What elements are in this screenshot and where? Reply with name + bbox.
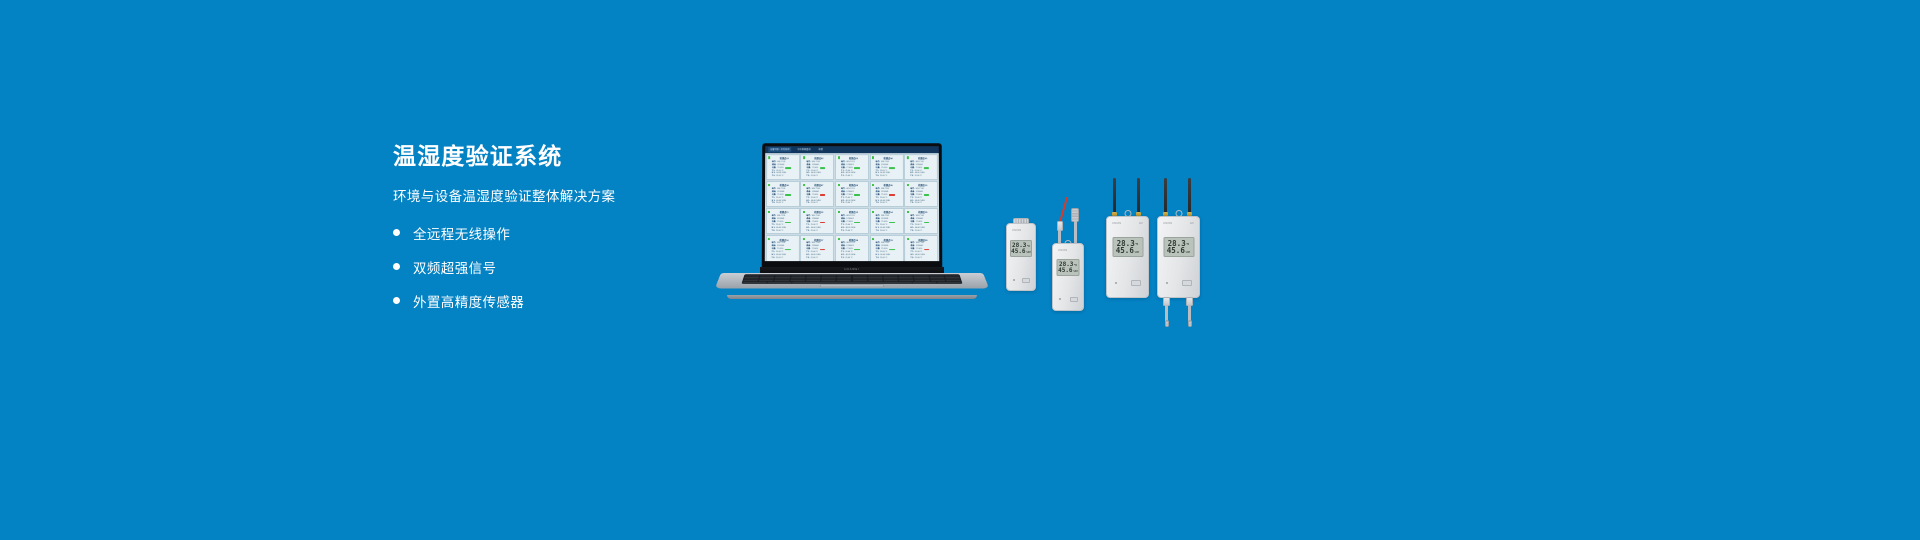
- tab-alarm[interactable]: 报警: [817, 148, 825, 152]
- app-header: 设备列表 / 实时监控 历史数据查询 报警: [765, 146, 939, 153]
- device-card-row: T 2:25.00 ℃: [876, 202, 901, 205]
- device-card-row: T 2:25.00 ℃: [772, 202, 797, 205]
- device-card[interactable]: 检测点03编号:WS-TY01通道:1230001电量:77.00%T 1:25…: [835, 154, 869, 180]
- device-brand-label: UNION: [1112, 222, 1121, 225]
- device-card[interactable]: 检测点19编号:WS-TY01通道:1230001电量:77.00%T 1:25…: [870, 235, 904, 261]
- field-label: T 2:: [876, 175, 879, 178]
- device-card-row: T 2:25.00 ℃: [806, 230, 831, 233]
- field-value: 25.00 ℃: [845, 175, 852, 178]
- field-value: 25.00 ℃: [811, 257, 818, 260]
- device-card-row: T 2:25.00 ℃: [806, 202, 831, 205]
- device-temp-humidity-logger-probe: UNION 28.3 ℃ 45.6 %RH: [1052, 196, 1084, 311]
- field-value: 25.00 ℃: [811, 175, 818, 178]
- status-dot-icon: [838, 184, 840, 186]
- probe-cable: [1059, 197, 1068, 222]
- status-dot-icon: [872, 211, 874, 213]
- device-model-label: HX: [1190, 222, 1194, 225]
- humidity-reading: 45.6 %RH: [1167, 247, 1190, 255]
- device-card-title: 检测点01: [772, 156, 797, 160]
- device-button[interactable]: [1022, 278, 1030, 283]
- list-item: 全远程无线操作: [393, 223, 723, 243]
- ok-badge: [854, 222, 860, 224]
- ok-badge: [820, 167, 825, 169]
- device-card[interactable]: 检测点12编号:WS-TY01通道:1230001电量:77.00%T 1:25…: [800, 208, 834, 234]
- device-card-row: T 2:25.00 ℃: [876, 257, 901, 260]
- device-card[interactable]: 检测点02编号:WS-TY01通道:1230001电量:77.00%T 1:25…: [800, 154, 834, 180]
- device-card-row: T 2:25.00 ℃: [876, 175, 901, 178]
- device-housing: UNION HX 28.3 ℃ 45.6 %RH: [1106, 216, 1149, 298]
- device-card[interactable]: 检测点15编号:WS-TY01通道:1230001电量:77.00%T 1:25…: [904, 208, 938, 234]
- humidity-reading: 45.6 %RH: [1061, 268, 1076, 274]
- lcd-display: 28.3 ℃ 45.6 %RH: [1057, 259, 1080, 276]
- status-dot-icon: [907, 238, 909, 240]
- ok-badge: [889, 167, 894, 169]
- device-card[interactable]: 检测点06编号:WS-TY01通道:1230001电量:77.00%T 1:25…: [766, 181, 800, 207]
- ok-badge: [924, 167, 929, 169]
- field-label: T 2:: [876, 202, 879, 205]
- device-card-row: T 2:25.00 ℃: [841, 257, 866, 260]
- keyboard-key[interactable]: [793, 282, 912, 283]
- device-housing: UNION HX 28.3 ℃ 45.6 %RH: [1157, 216, 1200, 298]
- device-card-title: 检测点14: [876, 210, 901, 214]
- field-value: 25.00 ℃: [776, 230, 783, 233]
- device-card-title: 检测点16: [772, 238, 797, 242]
- feature-list: 全远程无线操作 双频超强信号 外置高精度传感器: [393, 223, 723, 311]
- field-value: 25.00 ℃: [845, 202, 852, 205]
- device-card[interactable]: 检测点14编号:WS-TY01通道:1230001电量:77.00%T 1:25…: [870, 208, 904, 234]
- lcd-display: 28.3 ℃ 45.6 %RH: [1112, 237, 1143, 257]
- device-card-title: 检测点19: [876, 238, 901, 242]
- ok-badge: [924, 222, 930, 224]
- device-button[interactable]: [1070, 297, 1078, 302]
- device-card-row: T 2:25.00 ℃: [772, 230, 797, 233]
- status-dot-icon: [907, 184, 909, 186]
- status-dot-icon: [838, 211, 840, 213]
- field-value: 25.00 ℃: [845, 230, 852, 233]
- ok-badge: [889, 222, 895, 224]
- list-item: 外置高精度传感器: [393, 291, 723, 311]
- feature-label: 双频超强信号: [413, 257, 496, 277]
- antenna-icon: [1137, 178, 1140, 214]
- field-label: T 2:: [910, 257, 913, 260]
- status-dot-icon: [872, 157, 874, 159]
- antenna-icon: [1113, 178, 1116, 214]
- field-label: T 2:: [806, 230, 809, 233]
- field-value: 25.00 ℃: [880, 202, 887, 205]
- field-label: T 2:: [772, 230, 775, 233]
- device-card[interactable]: 检测点18编号:WS-TY01通道:1230001电量:77.00%T 1:25…: [835, 235, 869, 261]
- bullet-dot-icon: [393, 297, 400, 304]
- field-value: 25.00 ℃: [915, 175, 922, 178]
- status-dot-icon: [768, 238, 770, 240]
- field-label: T 2:: [876, 257, 879, 260]
- field-label: T 2:: [841, 257, 844, 260]
- tab-history[interactable]: 历史数据查询: [796, 148, 813, 152]
- probe-filter-mesh: [1071, 208, 1079, 222]
- device-wireless-sensor-dual-antenna-2: UNION HX 28.3 ℃ 45.6 %RH: [1157, 178, 1200, 298]
- feature-label: 全远程无线操作: [413, 223, 510, 243]
- lcd-display: 28.3 ℃ 45.6 %RH: [1163, 237, 1194, 257]
- status-dot-icon: [803, 211, 805, 213]
- feature-label: 外置高精度传感器: [413, 291, 524, 311]
- field-value: 25.00 ℃: [845, 257, 852, 260]
- ok-badge: [785, 167, 790, 169]
- status-dot-icon: [768, 184, 770, 186]
- field-value: 25.00 ℃: [880, 257, 887, 260]
- device-card-row: T 2:25.00 ℃: [910, 202, 935, 205]
- device-temp-humidity-logger-vent: UNION 28.3 ℃ 45.6 %RH: [1006, 218, 1036, 291]
- device-card-row: T 2:25.00 ℃: [910, 257, 935, 260]
- field-value: 25.00 ℃: [880, 175, 887, 178]
- bullet-dot-icon: [393, 229, 400, 236]
- device-brand-label: UNION: [1012, 229, 1021, 232]
- field-label: T 2:: [841, 175, 844, 178]
- status-dot-icon: [768, 211, 770, 213]
- page-subtitle: 环境与设备温湿度验证整体解决方案: [393, 185, 723, 205]
- keyboard-key[interactable]: [768, 282, 792, 283]
- device-card-row: T 2:25.00 ℃: [841, 230, 866, 233]
- device-card-row: T 2:25.00 ℃: [910, 175, 935, 178]
- status-dot-icon: [907, 211, 909, 213]
- status-dot-icon: [838, 157, 840, 159]
- status-dot-icon: [872, 238, 874, 240]
- status-led-icon: [1166, 282, 1168, 284]
- status-dot-icon: [768, 157, 770, 159]
- device-card-title: 检测点18: [841, 238, 866, 242]
- device-card[interactable]: 检测点04编号:WS-TY01通道:1230001电量:77.00%T 1:25…: [870, 154, 904, 180]
- tab-device-list[interactable]: 设备列表 / 实时监控: [768, 148, 791, 152]
- laptop-illustration: 设备列表 / 实时监控 历史数据查询 报警 检测点01编号:WS-TY01通道:…: [721, 143, 983, 299]
- device-card-row: T 2:25.00 ℃: [806, 175, 831, 178]
- status-led-icon: [1115, 282, 1117, 284]
- ok-badge: [785, 222, 791, 224]
- device-brand-label: UNION: [1163, 222, 1172, 225]
- device-card-title: 检测点02: [806, 156, 831, 160]
- status-dot-icon: [803, 157, 805, 159]
- device-card-grid: 检测点01编号:WS-TY01通道:1230001电量:77.00%T 1:25…: [765, 153, 939, 261]
- device-card[interactable]: 检测点17编号:WS-TY01通道:1230001电量:77.00%T 1:25…: [800, 235, 834, 261]
- device-card-title: 检测点11: [772, 210, 797, 214]
- device-model-label: HX: [1139, 222, 1143, 225]
- laptop-base: [715, 273, 989, 288]
- device-card[interactable]: 检测点11编号:WS-TY01通道:1230001电量:77.00%T 1:25…: [766, 208, 800, 234]
- device-card-row: T 2:25.00 ℃: [910, 230, 935, 233]
- field-label: T 2:: [910, 230, 913, 233]
- field-label: T 2:: [772, 175, 775, 178]
- field-label: T 2:: [841, 202, 844, 205]
- device-card[interactable]: 检测点01编号:WS-TY01通道:1230001电量:77.00%T 1:25…: [766, 154, 800, 180]
- device-card[interactable]: 检测点09编号:WS-TY01通道:1230001电量:77.00%T 1:25…: [870, 181, 904, 207]
- field-label: T 2:: [841, 230, 844, 233]
- device-card-row: T 2:25.00 ℃: [876, 230, 901, 233]
- device-card-title: 检测点10: [910, 183, 935, 187]
- status-dot-icon: [838, 238, 840, 240]
- field-label: T 2:: [876, 230, 879, 233]
- status-dot-icon: [872, 184, 874, 186]
- ok-badge: [854, 194, 859, 196]
- status-dot-icon: [803, 238, 805, 240]
- device-button[interactable]: [1182, 280, 1192, 286]
- device-card-title: 检测点05: [910, 156, 935, 160]
- antenna-icon: [1164, 178, 1167, 214]
- device-housing: UNION 28.3 ℃ 45.6 %RH: [1006, 223, 1036, 291]
- antenna-icon: [1188, 178, 1191, 214]
- device-wireless-sensor-dual-antenna-1: UNION HX 28.3 ℃ 45.6 %RH: [1106, 178, 1149, 298]
- device-card-row: T 2:25.00 ℃: [806, 257, 831, 260]
- device-button[interactable]: [1131, 280, 1141, 286]
- device-card-title: 检测点09: [876, 183, 901, 187]
- device-card-title: 检测点12: [806, 210, 831, 214]
- device-card-row: T 2:25.00 ℃: [841, 202, 866, 205]
- brand-logo: HUAWEI: [760, 268, 944, 271]
- page-title: 温湿度验证系统: [393, 142, 723, 171]
- status-dot-icon: [803, 184, 805, 186]
- field-value: 25.00 ℃: [915, 257, 922, 260]
- field-value: 25.00 ℃: [776, 175, 783, 178]
- device-brand-label: UNION: [1058, 249, 1067, 252]
- device-card-title: 检测点17: [806, 238, 831, 242]
- device-card[interactable]: 检测点13编号:WS-TY01通道:1230001电量:77.00%T 1:25…: [835, 208, 869, 234]
- list-item: 双频超强信号: [393, 257, 723, 277]
- field-label: T 2:: [910, 202, 913, 205]
- field-label: T 2:: [806, 202, 809, 205]
- banner-copy: 温湿度验证系统 环境与设备温湿度验证整体解决方案 全远程无线操作 双频超强信号 …: [393, 142, 723, 311]
- ok-badge: [785, 194, 791, 196]
- field-label: T 2:: [806, 257, 809, 260]
- field-value: 25.00 ℃: [915, 230, 922, 233]
- field-value: 25.00 ℃: [811, 230, 818, 233]
- humidity-reading: 45.6 %RH: [1014, 249, 1028, 255]
- keyboard[interactable]: [741, 274, 963, 283]
- device-card-title: 检测点04: [876, 156, 901, 160]
- keyboard-key[interactable]: [912, 282, 936, 283]
- device-card-title: 检测点03: [841, 156, 866, 160]
- probe-filter-mesh: [1165, 320, 1169, 327]
- sensor-device-group: UNION 28.3 ℃ 45.6 %RH UNION: [1000, 170, 1260, 320]
- field-label: T 2:: [910, 175, 913, 178]
- device-card-title: 检测点13: [841, 210, 866, 214]
- device-card[interactable]: 检测点10编号:WS-TY01通道:1230001电量:77.00%T 1:25…: [904, 181, 938, 207]
- status-led-icon: [1059, 298, 1061, 300]
- field-value: 25.00 ℃: [915, 202, 922, 205]
- device-card-title: 检测点15: [910, 210, 935, 214]
- device-card[interactable]: 检测点07编号:WS-TY01通道:1230001电量:77.00%T 1:25…: [800, 181, 834, 207]
- bullet-dot-icon: [393, 263, 400, 270]
- device-card-row: T 2:25.00 ℃: [841, 175, 866, 178]
- device-card-row: T 2:25.00 ℃: [772, 175, 797, 178]
- humidity-reading: 45.6 %RH: [1116, 247, 1139, 255]
- status-dot-icon: [907, 157, 909, 159]
- probe-stem: [1074, 221, 1077, 244]
- field-value: 25.00 ℃: [811, 202, 818, 205]
- laptop-lid: 设备列表 / 实时监控 历史数据查询 报警 检测点01编号:WS-TY01通道:…: [762, 143, 943, 268]
- device-card[interactable]: 检测点05编号:WS-TY01通道:1230001电量:77.00%T 1:25…: [904, 154, 938, 180]
- alarm-badge: [889, 194, 895, 196]
- ok-badge: [854, 167, 859, 169]
- laptop-base-lip: [727, 295, 977, 299]
- keyboard-row: [743, 282, 961, 283]
- keyboard-key[interactable]: [937, 282, 961, 283]
- device-card-title: 检测点08: [841, 183, 866, 187]
- device-housing: UNION 28.3 ℃ 45.6 %RH: [1052, 243, 1084, 311]
- probe-filter-mesh: [1188, 320, 1192, 327]
- device-card-row: T 2:25.00 ℃: [771, 257, 796, 260]
- keyboard-key[interactable]: [743, 282, 767, 283]
- ok-badge: [924, 194, 930, 196]
- device-card[interactable]: 检测点16编号:WS-TY01通道:1230001电量:77.00%T 1:25…: [765, 235, 799, 261]
- status-led-icon: [1013, 279, 1015, 281]
- lcd-display: 28.3 ℃ 45.6 %RH: [1010, 240, 1032, 257]
- field-label: T 2:: [772, 202, 775, 205]
- probe-stem: [1058, 230, 1060, 244]
- trackpad[interactable]: [819, 285, 885, 288]
- device-card-title: 检测点07: [806, 183, 831, 187]
- device-card[interactable]: 检测点08编号:WS-TY01通道:1230001电量:77.00%T 1:25…: [835, 181, 869, 207]
- field-value: 25.00 ℃: [776, 202, 783, 205]
- device-card-title: 检测点06: [772, 183, 797, 187]
- alarm-badge: [820, 222, 826, 224]
- field-label: T 2:: [806, 175, 809, 178]
- laptop-screen: 设备列表 / 实时监控 历史数据查询 报警 检测点01编号:WS-TY01通道:…: [765, 146, 939, 261]
- device-card[interactable]: 检测点20编号:WS-TY01通道:1230001电量:77.00%T 1:25…: [904, 235, 938, 261]
- field-value: 25.00 ℃: [880, 230, 887, 233]
- field-label: T 2:: [771, 257, 774, 260]
- device-card-title: 检测点20: [910, 238, 935, 242]
- alarm-badge: [820, 194, 825, 196]
- field-value: 25.00 ℃: [776, 257, 783, 260]
